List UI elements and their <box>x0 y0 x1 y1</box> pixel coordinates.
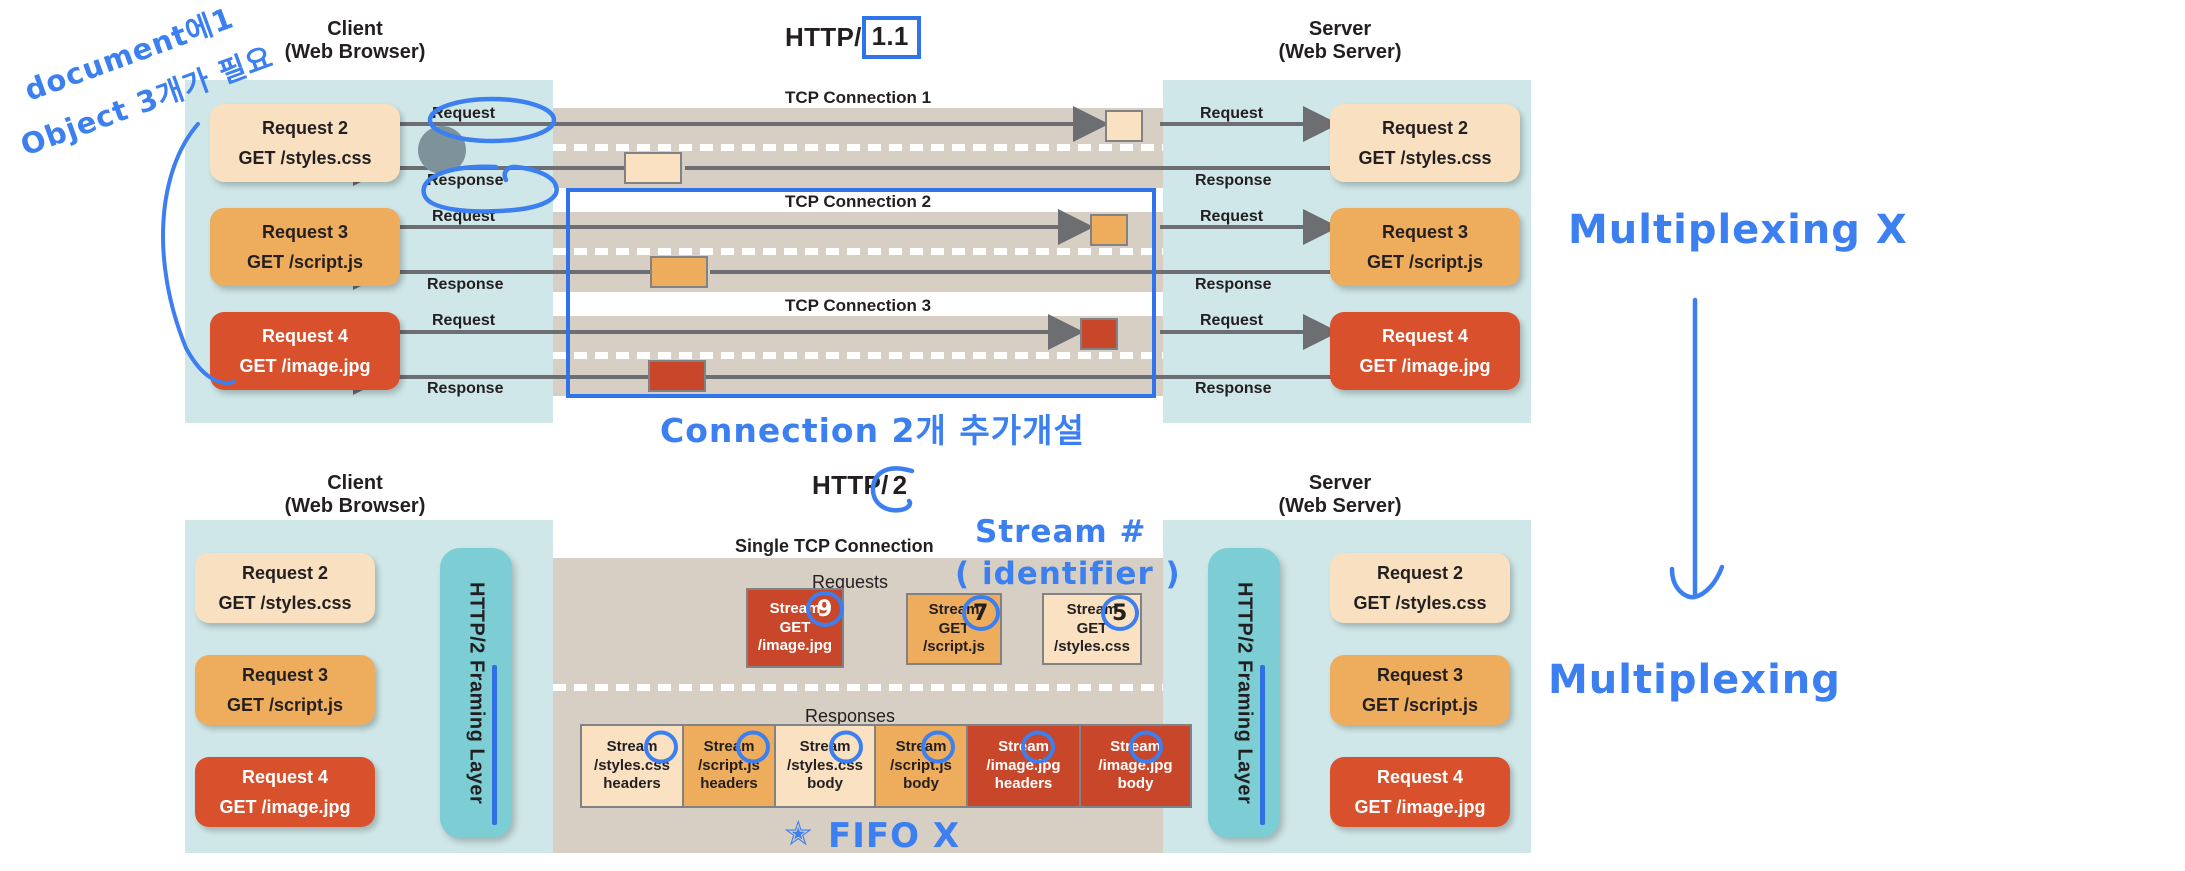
http1-server-response-label-1: Response <box>1195 172 1271 190</box>
http2-client-card-1-line1: Request 2 <box>242 563 328 584</box>
http2-server-header: Server (Web Server) <box>1215 472 1465 518</box>
server-framing-layer-label: HTTP/2 Framing Layer <box>1233 582 1256 804</box>
http2-client-card-2-line1: Request 3 <box>242 665 328 686</box>
annotation-stream-number-req-2-circle <box>961 594 1001 632</box>
http2-client-card-1[interactable]: Request 2 GET /styles.css <box>195 553 375 623</box>
http1-server-request-label-1: Request <box>1200 105 1263 123</box>
http2-server-card-2-line1: Request 3 <box>1377 665 1463 686</box>
http2-server-card-1[interactable]: Request 2 GET /styles.css <box>1330 553 1510 623</box>
annotation-tcp-connections-box <box>566 188 1156 398</box>
http1-server-header-line1: Server <box>1215 18 1465 41</box>
client-framing-layer-label: HTTP/2 Framing Layer <box>465 582 488 804</box>
http1-title-text: HTTP/ <box>785 22 862 53</box>
http2-client-card-2-line2: GET /script.js <box>227 695 343 716</box>
http2-server-card-3[interactable]: Request 4 GET /image.jpg <box>1330 757 1510 827</box>
http2-client-card-3-line2: GET /image.jpg <box>219 797 350 818</box>
http2-server-card-1-line1: Request 2 <box>1377 563 1463 584</box>
http2-single-connection-label: Single TCP Connection <box>735 536 934 557</box>
client-http2-framing-layer: HTTP/2 Framing Layer <box>440 548 512 838</box>
http1-server-request-label-2: Request <box>1200 208 1263 226</box>
http2-server-card-3-line1: Request 4 <box>1377 767 1463 788</box>
annotation-stream-id-line2: ( identifier ) <box>955 556 1181 592</box>
http1-client-header-line1: Client <box>230 18 480 41</box>
http2-request-frame-2-path: /script.js <box>923 638 985 657</box>
annotation-under-tcp: Connection 2개 추가개설 <box>660 404 1085 452</box>
annotation-stream-number-req-1-circle <box>805 590 845 628</box>
http2-client-card-2[interactable]: Request 3 GET /script.js <box>195 655 375 725</box>
http1-server-header-line2: (Web Server) <box>1215 41 1465 64</box>
http1-client-response-label-2: Response <box>427 276 503 294</box>
http1-packet-request-1 <box>1105 110 1143 142</box>
http2-client-card-3[interactable]: Request 4 GET /image.jpg <box>195 757 375 827</box>
http1-section-title: HTTP/ 1.1 <box>785 16 921 59</box>
annotation-stream-number-req-3-circle <box>1100 594 1140 632</box>
http2-response-frame-2-part: headers <box>700 775 758 794</box>
http2-title-circle-ink <box>868 464 928 516</box>
http2-response-frame-6-part: body <box>1118 775 1154 794</box>
http1-client-response-label-3: Response <box>427 380 503 398</box>
http2-client-header: Client (Web Browser) <box>230 472 480 518</box>
annotation-right-bottom: Multiplexing <box>1548 657 1841 703</box>
http2-request-frame-3-path: /styles.css <box>1054 638 1130 657</box>
http1-server-header: Server (Web Server) <box>1215 18 1465 64</box>
server-http2-framing-layer: HTTP/2 Framing Layer <box>1208 548 1280 838</box>
client-framing-layer-underline <box>492 665 497 825</box>
http2-band-divider <box>553 684 1163 691</box>
http2-response-frame-4-part: body <box>903 775 939 794</box>
http2-server-card-1-line2: GET /styles.css <box>1353 593 1486 614</box>
annotation-circled-request <box>440 104 560 138</box>
annotation-fifo-star-icon: ✭ <box>784 814 814 854</box>
http1-server-request-label-3: Request <box>1200 312 1263 330</box>
http2-client-header-line2: (Web Browser) <box>230 495 480 518</box>
annotation-circled-response <box>432 172 562 206</box>
http1-packet-response-1 <box>624 152 682 184</box>
annotation-stream-number-resp-3-circle <box>828 730 864 764</box>
http1-server-card-3-line2: GET /image.jpg <box>1359 356 1490 377</box>
http2-server-card-2[interactable]: Request 3 GET /script.js <box>1330 655 1510 725</box>
server-framing-layer-underline <box>1260 665 1265 825</box>
http2-response-frame-1-part: headers <box>603 775 661 794</box>
http1-server-card-2-line2: GET /script.js <box>1367 252 1483 273</box>
http1-server-card-2[interactable]: Request 3 GET /script.js <box>1330 208 1520 286</box>
http1-server-response-label-3: Response <box>1195 380 1271 398</box>
http2-response-frame-5-part: headers <box>995 775 1053 794</box>
http2-request-frame-1-path: /image.jpg <box>758 637 832 656</box>
http1-server-card-2-line1: Request 3 <box>1382 222 1468 243</box>
annotation-stream-number-resp-5-circle <box>1020 730 1056 764</box>
http2-client-card-1-line2: GET /styles.css <box>218 593 351 614</box>
http2-server-card-3-line2: GET /image.jpg <box>1354 797 1485 818</box>
http1-band-divider-1 <box>553 144 1163 151</box>
http1-server-card-1[interactable]: Request 2 GET /styles.css <box>1330 104 1520 182</box>
annotation-stream-id-line1: Stream # <box>975 514 1146 550</box>
annotation-right-top: Multiplexing X <box>1568 207 1908 253</box>
annotation-fifo: FIFO X <box>828 816 960 856</box>
http1-server-card-3-line1: Request 4 <box>1382 326 1468 347</box>
http1-title-version-boxed: 1.1 <box>862 16 921 59</box>
http1-server-card-1-line2: GET /styles.css <box>1358 148 1491 169</box>
http2-server-card-2-line2: GET /script.js <box>1362 695 1478 716</box>
annotation-stream-number-resp-4-circle <box>920 730 956 764</box>
http2-server-header-line1: Server <box>1215 472 1465 495</box>
annotation-stream-number-resp-1-circle <box>643 730 679 764</box>
http2-response-frame-3-part: body <box>807 775 843 794</box>
http2-client-header-line1: Client <box>230 472 480 495</box>
annotation-stream-number-resp-2-circle <box>735 730 771 764</box>
http1-server-card-1-line1: Request 2 <box>1382 118 1468 139</box>
http2-server-header-line2: (Web Server) <box>1215 495 1465 518</box>
annotation-stream-number-resp-6-circle <box>1128 730 1164 764</box>
annotation-down-arrow-icon <box>1650 295 1740 615</box>
http1-server-response-label-2: Response <box>1195 276 1271 294</box>
http2-client-card-3-line1: Request 4 <box>242 767 328 788</box>
http1-client-request-label-3: Request <box>432 312 495 330</box>
http1-connection-label-1: TCP Connection 1 <box>553 88 1163 108</box>
http1-server-card-3[interactable]: Request 4 GET /image.jpg <box>1330 312 1520 390</box>
annotation-brace-ink <box>150 120 280 390</box>
